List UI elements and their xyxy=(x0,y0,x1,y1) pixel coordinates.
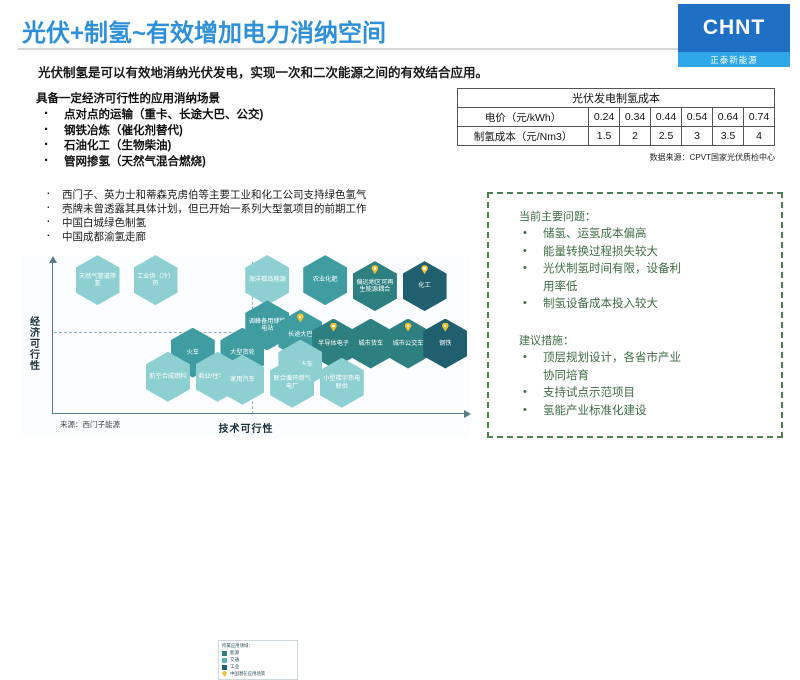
table-cell: 3.5 xyxy=(713,127,744,146)
problems-list: 储氢、运氢成本偏高 能量转换过程损失较大 光伏制氢时间有限，设备利 用率低 制氢… xyxy=(519,226,681,314)
table-row-label: 制氢成本（元/Nm3） xyxy=(458,127,589,146)
brand-logo-subtitle: 正泰新能源 xyxy=(678,52,790,67)
chart-legend-caption: 所属应用领域： xyxy=(222,643,294,649)
legend-entry-label: 能源 xyxy=(230,650,239,656)
table-cell: 2.5 xyxy=(651,127,682,146)
table-row: 光伏发电制氢成本 xyxy=(458,89,775,108)
table-row: 电价（元/kWh） 0.24 0.34 0.44 0.54 0.64 0.74 xyxy=(458,108,775,127)
legend-entry-label: 工业 xyxy=(230,664,239,670)
legend-swatch-icon xyxy=(222,658,227,663)
chart-legend: 所属应用领域： 能源 交通 工业 中国潜在应用场景 xyxy=(218,640,298,680)
cost-table: 光伏发电制氢成本 电价（元/kWh） 0.24 0.34 0.44 0.54 0… xyxy=(457,88,775,146)
list-item: 中国白城绿色制氢 xyxy=(36,216,366,230)
intro-paragraph: 光伏制氢是可以有效地消纳光伏发电，实现一次和二次能源之间的有效结合应用。 xyxy=(38,62,488,81)
chart-legend-entry: 能源 xyxy=(222,650,294,656)
legend-note-label: 中国潜在应用场景 xyxy=(230,671,265,677)
brand-logo-text: CHNT xyxy=(703,16,765,40)
list-item: 顶层规划设计，各省市产业 xyxy=(519,350,681,368)
table-cell: 0.64 xyxy=(713,108,744,127)
map-pin-icon xyxy=(222,671,227,677)
table-cell: 2 xyxy=(620,127,651,146)
problems-heading: 当前主要问题： xyxy=(519,208,596,224)
list-item: 支持试点示范项目 xyxy=(519,385,681,403)
table-cell: 0.44 xyxy=(651,108,682,127)
table-cell: 0.74 xyxy=(743,108,774,127)
list-item: 制氢设备成本投入较大 xyxy=(519,296,681,314)
list-item: 储氢、运氢成本偏高 xyxy=(519,226,681,244)
legend-swatch-icon xyxy=(222,651,227,656)
list-item: 点对点的运输（重卡、长途大巴、公交) xyxy=(36,108,336,124)
recommendation-panel: 当前主要问题： 储氢、运氢成本偏高 能量转换过程损失较大 光伏制氢时间有限，设备… xyxy=(487,192,783,438)
page-title: 光伏+制氢~有效增加电力消纳空间 xyxy=(22,13,386,48)
chart-x-axis-line xyxy=(52,413,466,414)
table-source: 数据来源：CPVT国家光伏质检中心 xyxy=(457,152,775,163)
chart-point-hex: 农业化肥 xyxy=(303,255,347,305)
legend-swatch-icon xyxy=(222,665,227,670)
table-cell: 4 xyxy=(743,127,774,146)
list-item: 西门子、英力士和蒂森克虏伯等主要工业和化工公司支持绿色氢气 xyxy=(36,188,366,202)
scenarios-list: 点对点的运输（重卡、长途大巴、公交) 钢铁冶炼（催化剂替代) 石油化工（生物柴油… xyxy=(36,108,336,170)
chart-x-axis-arrow-icon xyxy=(464,410,471,418)
chart-y-axis-line xyxy=(52,262,53,414)
notes-block: 西门子、英力士和蒂森克虏伯等主要工业和化工公司支持绿色氢气 壳牌未曾透露其具体计… xyxy=(36,188,366,244)
list-item: 中国成都渝氢走廊 xyxy=(36,230,366,244)
list-item: 石油化工（生物柴油) xyxy=(36,139,336,155)
measures-list: 顶层规划设计，各省市产业 协同培育 支持试点示范项目 氢能产业标准化建设 xyxy=(519,350,681,420)
list-item-continuation: 协同培育 xyxy=(519,368,681,386)
table-cell: 1.5 xyxy=(589,127,620,146)
table-cell: 0.34 xyxy=(620,108,651,127)
table-cell: 3 xyxy=(682,127,713,146)
list-item: 管网掺氢（天然气混合燃烧) xyxy=(36,155,336,171)
scenarios-block: 具备一定经济可行性的应用消纳场景 点对点的运输（重卡、长途大巴、公交) 钢铁冶炼… xyxy=(36,90,336,170)
list-item: 氢能产业标准化建设 xyxy=(519,403,681,421)
brand-logo: CHNT xyxy=(678,4,790,52)
list-item: 能量转换过程损失较大 xyxy=(519,244,681,262)
table-cell: 0.24 xyxy=(589,108,620,127)
chart-point-hex: 工业供（冷）热 xyxy=(134,255,178,305)
title-divider xyxy=(18,48,782,50)
brand-logo-subtitle-text: 正泰新能源 xyxy=(710,54,758,66)
chart-y-axis-label: 经济可行性 xyxy=(26,278,40,408)
table-cell: 0.54 xyxy=(682,108,713,127)
chart-legend-note: 中国潜在应用场景 xyxy=(222,671,294,677)
table-row-label: 电价（元/kWh） xyxy=(458,108,589,127)
chart-point-hex: 小型楼宇热电联供 xyxy=(320,358,364,408)
table-row: 制氢成本（元/Nm3） 1.5 2 2.5 3 3.5 4 xyxy=(458,127,775,146)
chart-legend-entry: 交通 xyxy=(222,657,294,663)
legend-entry-label: 交通 xyxy=(230,657,239,663)
scenarios-heading: 具备一定经济可行性的应用消纳场景 xyxy=(36,90,336,106)
chart-legend-entry: 工业 xyxy=(222,664,294,670)
list-item: 壳牌未曾透露其具体计划，但已开始一系列大型氢项目的前期工作 xyxy=(36,202,366,216)
feasibility-chart: 经济可行性 技术可行性 来源：西门子能源 天然气管道掺氢工业供（冷）热海洋孤岛能… xyxy=(22,256,470,438)
list-item: 钢铁冶炼（催化剂替代) xyxy=(36,124,336,140)
table-title-cell: 光伏发电制氢成本 xyxy=(458,89,775,108)
list-item: 光伏制氢时间有限，设备利 xyxy=(519,261,681,279)
chart-point-hex: 天然气管道掺氢 xyxy=(76,255,120,305)
list-item-continuation: 用率低 xyxy=(519,279,681,297)
chart-y-axis-arrow-icon xyxy=(49,256,57,263)
slide-root: 光伏+制氢~有效增加电力消纳空间 CHNT 正泰新能源 光伏制氢是可以有效地消纳… xyxy=(0,0,800,447)
notes-list: 西门子、英力士和蒂森克虏伯等主要工业和化工公司支持绿色氢气 壳牌未曾透露其具体计… xyxy=(36,188,366,244)
measures-heading: 建议措施： xyxy=(519,332,574,348)
chart-source: 来源：西门子能源 xyxy=(60,419,120,430)
cost-table-wrapper: 光伏发电制氢成本 电价（元/kWh） 0.24 0.34 0.44 0.54 0… xyxy=(457,88,775,146)
